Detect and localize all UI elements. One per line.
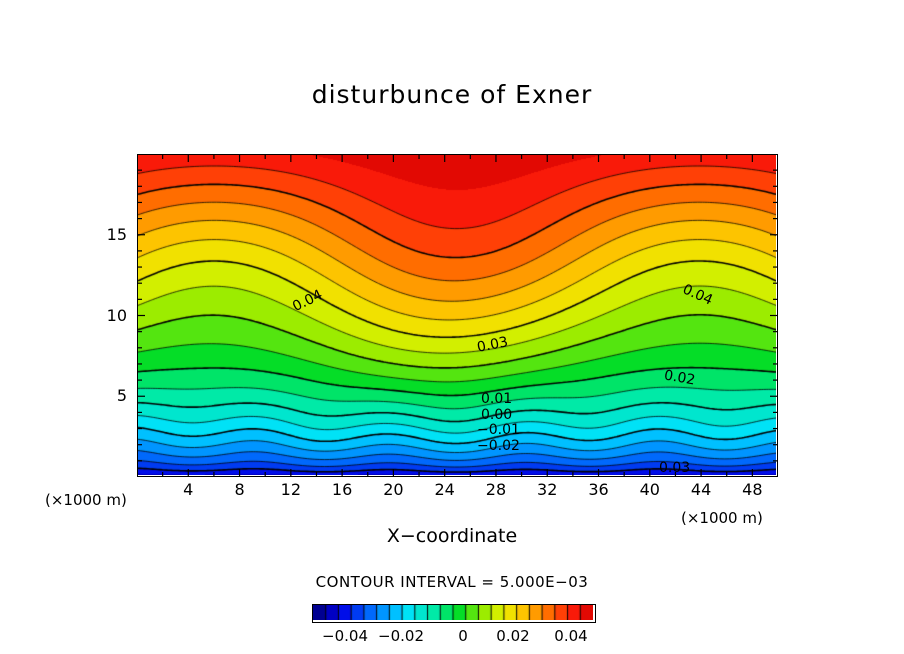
colorbar-tick-label: −0.02	[371, 627, 431, 645]
contour-interval-text: CONTOUR INTERVAL = 5.000E−03	[0, 573, 904, 591]
contour-label: −0.01	[477, 422, 520, 438]
contour-label: −0.02	[477, 438, 520, 454]
x-unit-right: (×1000 m)	[681, 509, 763, 527]
colorbar	[312, 604, 596, 623]
y-tick-label: 10	[93, 306, 127, 325]
colorbar-tick-label: 0.02	[483, 627, 543, 645]
page-title: disturbunce of Exner	[0, 80, 904, 109]
contour-label: 0.01	[481, 391, 512, 407]
x-tick-label: 20	[373, 480, 413, 499]
x-axis-label: X−coordinate	[0, 525, 904, 547]
y-tick-label: 5	[93, 386, 127, 405]
x-tick-label: 32	[527, 480, 567, 499]
x-tick-label: 28	[476, 480, 516, 499]
contour-label: 0.00	[481, 407, 512, 423]
x-tick-label: 12	[271, 480, 311, 499]
x-tick-label: 16	[322, 480, 362, 499]
contour-label: 0.03	[659, 460, 690, 476]
x-tick-label: 40	[630, 480, 670, 499]
colorbar-tick-label: −0.04	[315, 627, 375, 645]
contour-field	[138, 155, 776, 475]
x-tick-label: 48	[732, 480, 772, 499]
x-tick-label: 44	[681, 480, 721, 499]
x-tick-label: 4	[168, 480, 208, 499]
x-tick-label: 8	[220, 480, 260, 499]
contour-plot-area	[137, 154, 778, 477]
x-unit-left: (×1000 m)	[45, 491, 127, 509]
colorbar-tick-label: 0.04	[541, 627, 601, 645]
x-tick-label: 36	[579, 480, 619, 499]
x-tick-label: 24	[425, 480, 465, 499]
y-tick-label: 15	[93, 225, 127, 244]
